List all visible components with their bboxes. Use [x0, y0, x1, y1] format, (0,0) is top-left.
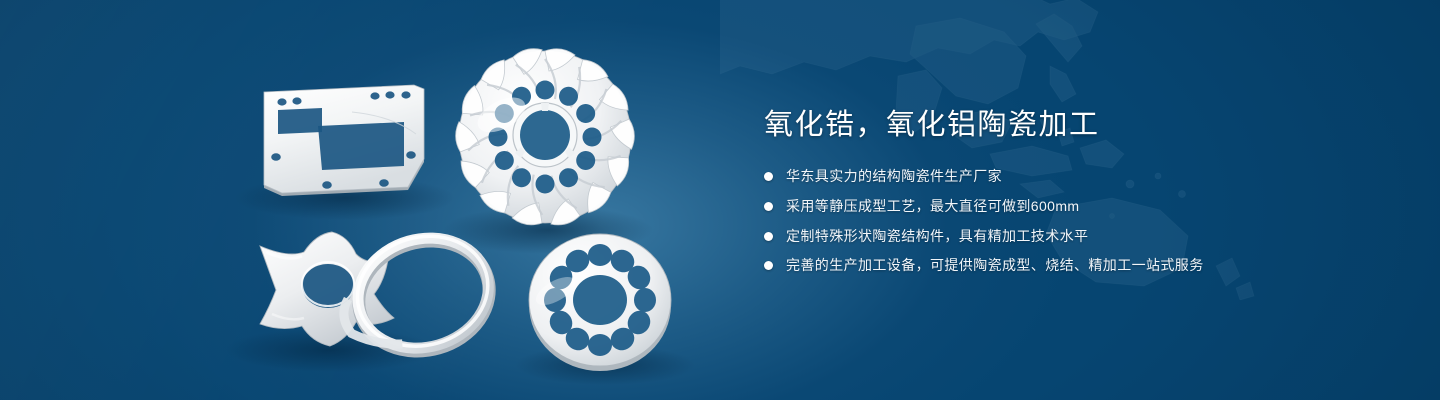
feature-text: 采用等静压成型工艺，最大直径可做到600mm [786, 197, 1079, 216]
feature-list: 华东具实力的结构陶瓷件生产厂家 采用等静压成型工艺，最大直径可做到600mm 定… [764, 167, 1404, 276]
list-item: 华东具实力的结构陶瓷件生产厂家 [764, 167, 1404, 186]
bullet-dot-icon [764, 261, 773, 270]
hero-banner: 氧化锆，氧化铝陶瓷加工 华东具实力的结构陶瓷件生产厂家 采用等静压成型工艺，最大… [0, 0, 1440, 400]
ceramic-perforated-disc [529, 234, 671, 371]
ceramic-plate-with-cutouts [264, 85, 424, 196]
bullet-dot-icon [764, 172, 773, 181]
page-title: 氧化锆，氧化铝陶瓷加工 [764, 108, 1404, 143]
ceramic-impeller-disc [453, 44, 638, 230]
list-item: 采用等静压成型工艺，最大直径可做到600mm [764, 197, 1404, 216]
feature-text: 华东具实力的结构陶瓷件生产厂家 [786, 167, 1002, 186]
list-item: 完善的生产加工设备，可提供陶瓷成型、烧结、精加工一站式服务 [764, 256, 1404, 275]
bullet-dot-icon [764, 232, 773, 241]
feature-text: 完善的生产加工设备，可提供陶瓷成型、烧结、精加工一站式服务 [786, 256, 1204, 275]
list-item: 定制特殊形状陶瓷结构件，具有精加工技术水平 [764, 227, 1404, 246]
product-photo-cluster [0, 0, 740, 400]
bullet-dot-icon [764, 202, 773, 211]
banner-copy: 氧化锆，氧化铝陶瓷加工 华东具实力的结构陶瓷件生产厂家 采用等静压成型工艺，最大… [764, 108, 1404, 275]
feature-text: 定制特殊形状陶瓷结构件，具有精加工技术水平 [786, 227, 1088, 246]
